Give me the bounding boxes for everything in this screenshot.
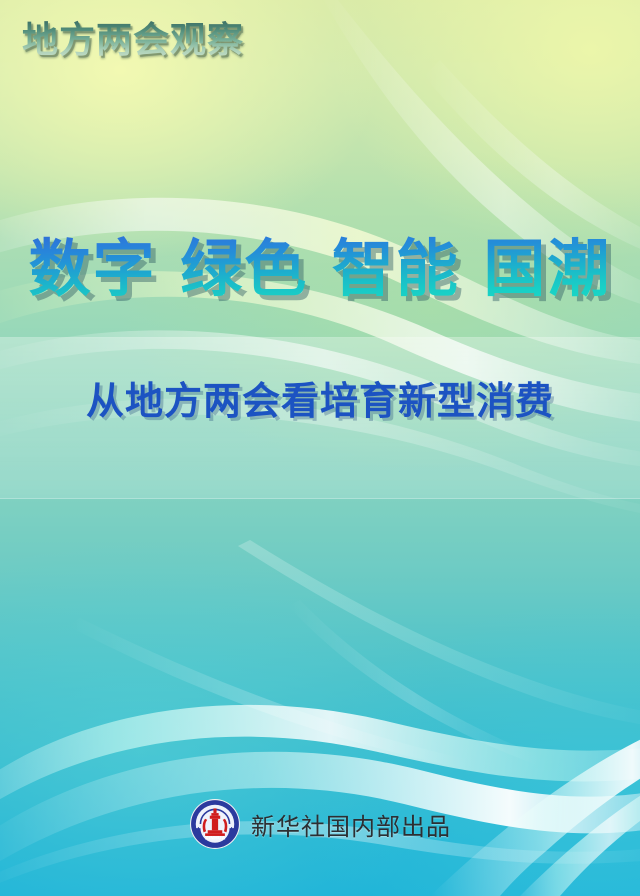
subtitle-text: 从地方两会看培育新型消费	[0, 380, 640, 422]
kicker-label: 地方两会观察	[22, 20, 244, 61]
xinhua-logo-icon: XINHUA	[189, 798, 241, 850]
background-glow-bottom-right	[300, 600, 640, 896]
footer-text: 新华社国内部出品	[251, 807, 451, 842]
headline-text: 数字 绿色 智能 国潮	[0, 236, 640, 301]
poster-canvas: 地方两会观察 地方两会观察 数字 绿色 智能 国潮 数字 绿色 智能 国潮 从地…	[0, 0, 640, 896]
subtitle-block: 从地方两会看培育新型消费 从地方两会看培育新型消费	[0, 380, 640, 422]
footer-credit: XINHUA 新华社国内部出品	[0, 798, 640, 850]
logo-wordmark: XINHUA	[205, 836, 226, 842]
background-glow-top-right	[330, 0, 640, 260]
headline-block: 数字 绿色 智能 国潮 数字 绿色 智能 国潮	[0, 236, 640, 301]
